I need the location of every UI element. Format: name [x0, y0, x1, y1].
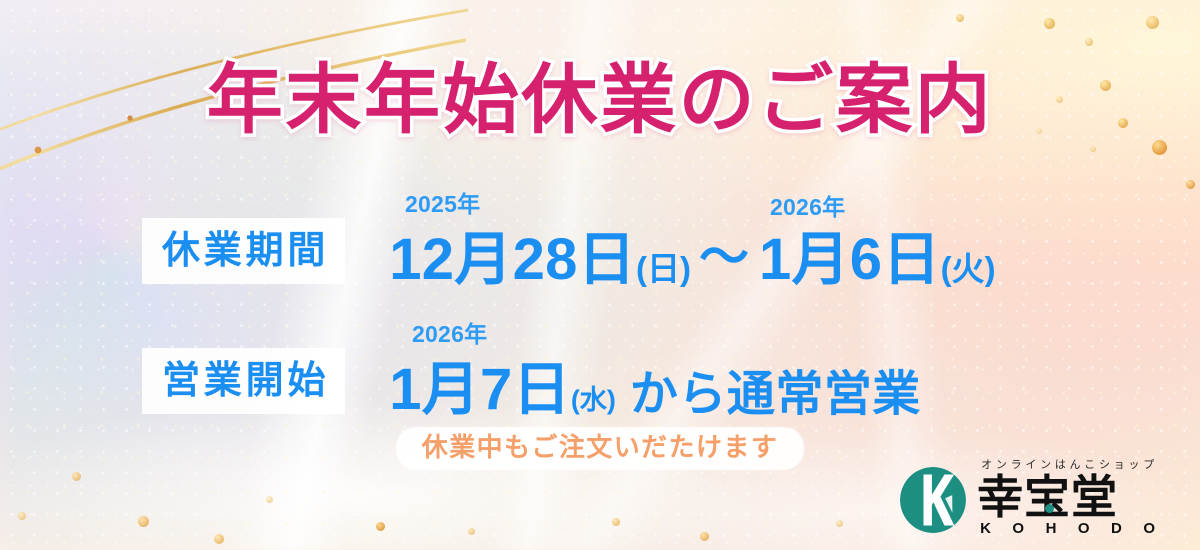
gold-fleck: [72, 472, 81, 481]
holiday-end-weekday: (火): [941, 252, 996, 288]
gold-fleck: [956, 14, 964, 22]
note-text: 休業中もご注文いだたけます: [422, 432, 779, 462]
gold-fleck: [1186, 180, 1195, 189]
gold-fleck: [138, 516, 149, 527]
reopen-label: 営業開始: [142, 348, 345, 414]
reopen-value: 1月7日 (水) から通常営業: [389, 362, 921, 418]
gold-fleck: [700, 532, 709, 541]
gold-fleck: [1090, 146, 1096, 152]
note-cloud-background: 休業中もご注文いだたけます: [396, 425, 805, 472]
holiday-period-label: 休業期間: [142, 218, 345, 284]
gold-fleck: [612, 518, 620, 526]
gold-fleck: [376, 522, 385, 531]
holiday-start-year: 2025年: [405, 193, 480, 216]
logo-teal-dot-icon: [1045, 504, 1054, 513]
gold-fleck: [836, 520, 843, 527]
gold-fleck: [214, 534, 224, 544]
date-range-separator: 〜: [691, 232, 759, 288]
page-title: 年末年始休業のご案内: [0, 62, 1200, 138]
holiday-start-weekday: (日): [636, 252, 691, 288]
holiday-start-date: 12月28日: [389, 232, 636, 288]
reopen-row: 営業開始 1月7日 (水) から通常営業: [0, 326, 1200, 418]
reopen-date: 1月7日: [389, 362, 571, 418]
kohodo-k-mark-icon: [900, 467, 966, 533]
gold-fleck: [1044, 18, 1055, 29]
logo-roman-letter: O: [1143, 521, 1155, 536]
gold-fleck: [18, 512, 26, 520]
holiday-end-year: 2026年: [770, 196, 845, 219]
gold-fleck: [1152, 140, 1167, 155]
reopen-suffix: から通常営業: [630, 372, 921, 418]
holiday-period-row: 休業期間 12月28日 (日) 〜 1月6日 (火): [0, 196, 1200, 288]
reopen-year: 2026年: [412, 323, 487, 346]
gold-fleck: [266, 496, 273, 503]
holiday-end-date: 1月6日: [759, 232, 941, 288]
gold-fleck: [1085, 38, 1093, 46]
reopen-weekday: (水): [571, 387, 616, 418]
logo-text-block: オンラインはんこショップ 幸宝堂 K O H O D O: [977, 460, 1158, 536]
gold-fleck: [1146, 16, 1159, 29]
gold-fleck: [468, 528, 475, 535]
logo-shop-name: 幸宝堂: [977, 476, 1118, 518]
shop-logo[interactable]: オンラインはんこショップ 幸宝堂 K O H O D O: [900, 460, 1158, 536]
holiday-period-value: 12月28日 (日) 〜 1月6日 (火): [389, 232, 995, 288]
holiday-notice-banner: 年末年始休業のご案内 休業期間 12月28日 (日) 〜 1月6日 (火) 20…: [0, 0, 1200, 550]
